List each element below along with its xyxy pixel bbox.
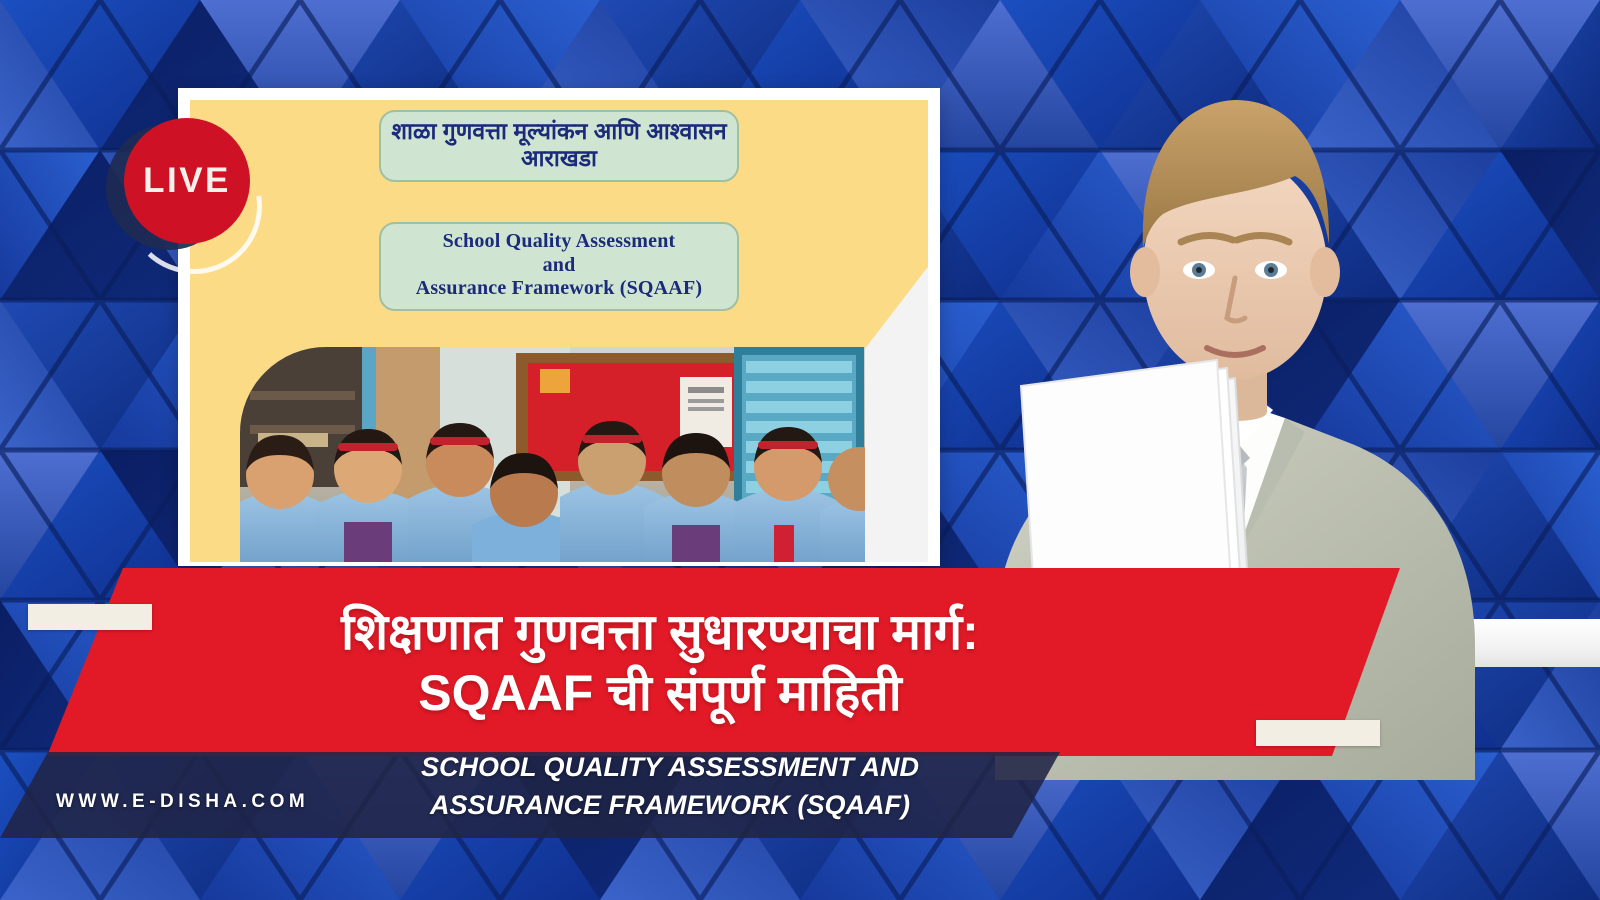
slide-title-marathi: शाळा गुणवत्ता मूल्यांकन आणि आश्वासन आराख… [379,110,739,182]
live-badge-label: LIVE [143,161,231,201]
slide-title-marathi-line1: शाळा गुणवत्ता मूल्यांकन [391,118,587,144]
slide-title-marathi-line2: आणि [594,118,640,144]
slide-title-english-line2: and [389,254,729,278]
subtitle-banner [0,752,1060,838]
slide-title-english-line1: School Quality Assessment [389,230,729,254]
classroom-photo [240,347,865,562]
slide-title-english: School Quality Assessment and Assurance … [379,222,739,311]
accent-bar-left [28,604,152,630]
accent-bar-right [1256,720,1380,746]
live-badge[interactable]: LIVE [98,112,268,272]
live-badge-circle[interactable]: LIVE [124,118,250,244]
slide-content: शाळा गुणवत्ता मूल्यांकन आणि आश्वासन आराख… [190,100,928,562]
slide-title-english-line3: Assurance Framework (SQAAF) [389,277,729,301]
headline-banner [0,568,1400,756]
presentation-slide: शाळा गुणवत्ता मूल्यांकन आणि आश्वासन आराख… [178,88,940,566]
